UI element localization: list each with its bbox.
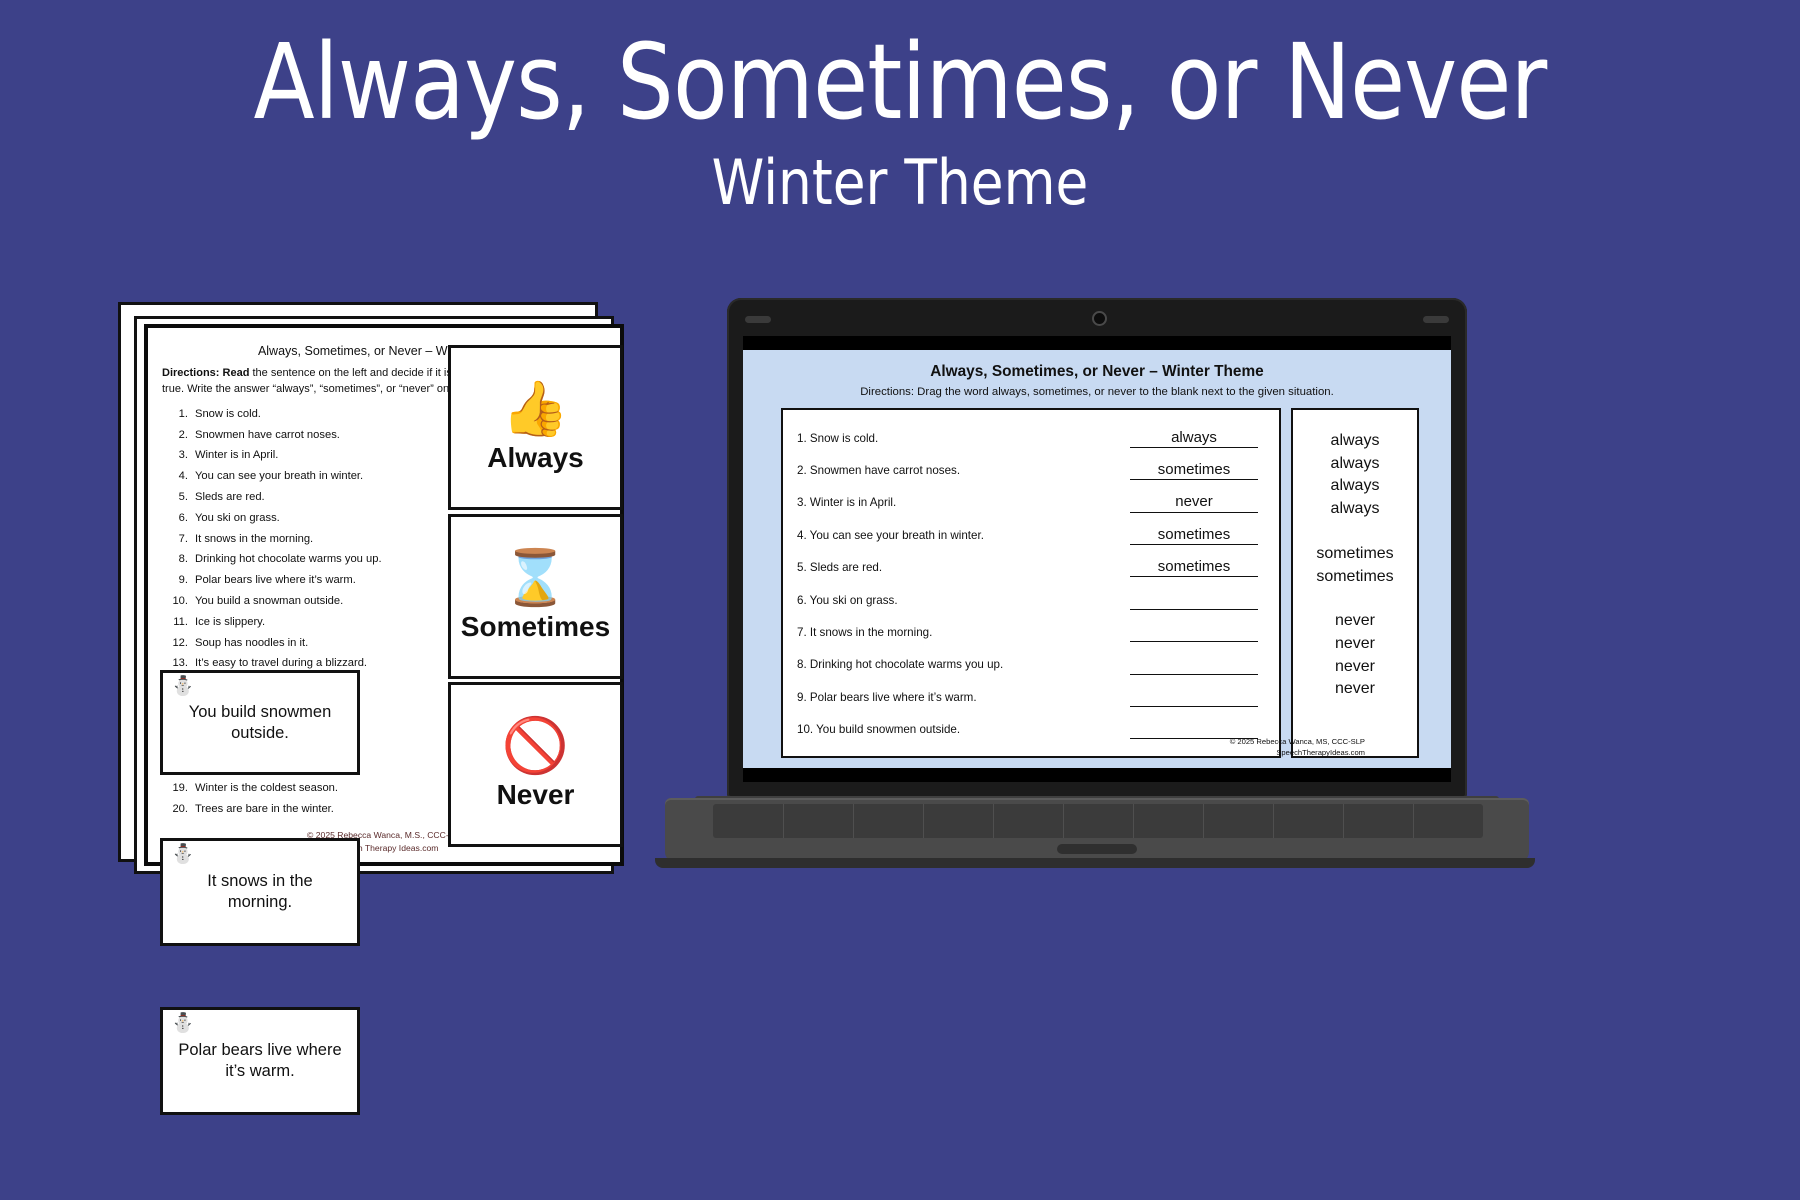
laptop-bezel-top: [727, 298, 1467, 332]
word-bank-token[interactable]: always: [1331, 475, 1380, 498]
worksheet-item-number: 2.: [166, 429, 195, 441]
category-card-sometimes[interactable]: ⌛ Sometimes: [448, 514, 623, 679]
slide-copyright-line1: © 2025 Rebecca Wanca, MS, CCC-SLP: [1230, 736, 1365, 747]
speaker-grille-right-icon: [1423, 316, 1449, 323]
no-entry-icon: 🚫: [502, 719, 569, 773]
header-banner: Always, Sometimes, or Never Winter Theme: [0, 0, 1800, 214]
worksheet-item-number: 6.: [166, 512, 195, 524]
thumbs-up-icon: 👍: [502, 382, 569, 436]
keyboard-key-divider: [923, 804, 924, 838]
keyboard-key-divider: [1133, 804, 1134, 838]
slide-item-row: 2. Snowmen have carrot noses.sometimes: [797, 454, 1265, 486]
slide-item-row: 4. You can see your breath in winter.som…: [797, 519, 1265, 551]
word-bank-token[interactable]: always: [1331, 498, 1380, 521]
laptop-front-edge: [655, 858, 1535, 868]
worksheet-item-number: 5.: [166, 491, 195, 503]
slide-directions: Directions: Drag the word always, someti…: [743, 386, 1451, 398]
slide-item-answer[interactable]: [1130, 688, 1258, 707]
worksheet-directions-bold: Directions: Read: [162, 367, 249, 379]
slide-item-row: 9. Polar bears live where it’s warm.: [797, 681, 1265, 713]
slide-item-row: 3. Winter is in April.never: [797, 487, 1265, 519]
laptop-lid: Always, Sometimes, or Never – Winter The…: [727, 298, 1467, 798]
slide-item-row: 1. Snow is cold.always: [797, 422, 1265, 454]
worksheet-item-number: 8.: [166, 553, 195, 565]
slide-item-text: 10. You build snowmen outside.: [797, 723, 1123, 736]
slide-item-answer-slot[interactable]: [1123, 591, 1265, 610]
slide-word-bank: alwaysalwaysalwaysalwayssometimessometim…: [1291, 408, 1419, 758]
hourglass-icon: ⌛: [502, 551, 569, 605]
worksheet-item-number: 20.: [166, 803, 195, 815]
slide-item-text: 8. Drinking hot chocolate warms you up.: [797, 658, 1123, 671]
worksheet-item-number: 19.: [166, 782, 195, 794]
word-bank-token[interactable]: never: [1335, 633, 1375, 656]
slide-item-answer-slot[interactable]: always: [1123, 429, 1265, 448]
word-bank-token[interactable]: never: [1335, 610, 1375, 633]
slide-question-panel: 1. Snow is cold.always2. Snowmen have ca…: [781, 408, 1281, 758]
slide-item-answer[interactable]: sometimes: [1130, 558, 1258, 577]
worksheet-item-number: 12.: [166, 637, 195, 649]
category-card-never[interactable]: 🚫 Never: [448, 682, 623, 847]
word-bank-token[interactable]: always: [1331, 453, 1380, 476]
slide-item-answer-slot[interactable]: [1123, 655, 1265, 674]
keyboard-key-divider: [1413, 804, 1414, 838]
worksheet-item-number: 9.: [166, 574, 195, 586]
worksheet-item-number: 3.: [166, 449, 195, 461]
slide-item-answer[interactable]: never: [1130, 493, 1258, 512]
laptop-keyboard[interactable]: [713, 804, 1483, 838]
keyboard-key-divider: [1063, 804, 1064, 838]
slide-item-answer-slot[interactable]: sometimes: [1123, 558, 1265, 577]
worksheet-item-number: 13.: [166, 657, 195, 669]
slide-item-text: 3. Winter is in April.: [797, 496, 1123, 509]
worksheet-item-number: 1.: [166, 408, 195, 420]
category-card-always[interactable]: 👍 Always: [448, 345, 623, 510]
slide-item-row: 5. Sleds are red.sometimes: [797, 552, 1265, 584]
category-card-label: Never: [497, 779, 575, 811]
word-bank-token[interactable]: always: [1331, 430, 1380, 453]
slide-item-text: 2. Snowmen have carrot noses.: [797, 464, 1123, 477]
slide-item-row: 8. Drinking hot chocolate warms you up.: [797, 649, 1265, 681]
slide-item-row: 6. You ski on grass.: [797, 584, 1265, 616]
word-bank-token[interactable]: never: [1335, 656, 1375, 679]
slide-item-answer[interactable]: [1130, 591, 1258, 610]
slide-item-answer-slot[interactable]: sometimes: [1123, 461, 1265, 480]
keyboard-key-divider: [1343, 804, 1344, 838]
keyboard-key-divider: [853, 804, 854, 838]
slide-item-row: 10. You build snowmen outside.: [797, 714, 1265, 746]
worksheet-item-number: 4.: [166, 470, 195, 482]
webcam-icon: [1092, 311, 1107, 326]
keyboard-key-divider: [783, 804, 784, 838]
slide-item-answer[interactable]: sometimes: [1130, 461, 1258, 480]
speaker-grille-left-icon: [745, 316, 771, 323]
snowman-icon: ⛄: [171, 845, 195, 864]
laptop-mockup: Always, Sometimes, or Never – Winter The…: [655, 298, 1535, 873]
page-subtitle: Winter Theme: [126, 152, 1674, 214]
slide-item-answer-slot[interactable]: never: [1123, 493, 1265, 512]
slide-item-answer[interactable]: [1130, 655, 1258, 674]
laptop-screen: Always, Sometimes, or Never – Winter The…: [743, 336, 1451, 782]
keyboard-key-divider: [1273, 804, 1274, 838]
digital-slide: Always, Sometimes, or Never – Winter The…: [743, 350, 1451, 768]
laptop-base: [665, 798, 1529, 862]
cue-card-text: You build snowmen outside.: [173, 702, 347, 743]
cue-card[interactable]: ⛄ It snows in the morning.: [160, 838, 360, 946]
word-bank-token[interactable]: never: [1335, 678, 1375, 701]
slide-copyright-line2: SpeechTherapyIdeas.com: [1230, 747, 1365, 758]
worksheet-item-number: 7.: [166, 533, 195, 545]
laptop-trackpad[interactable]: [1057, 844, 1137, 854]
category-card-label: Always: [487, 442, 584, 474]
slide-item-answer-slot[interactable]: [1123, 623, 1265, 642]
slide-copyright: © 2025 Rebecca Wanca, MS, CCC-SLP Speech…: [1230, 736, 1365, 758]
slide-item-answer[interactable]: [1130, 623, 1258, 642]
slide-item-answer[interactable]: always: [1130, 429, 1258, 448]
worksheet-item-number: 10.: [166, 595, 195, 607]
slide-item-answer-slot[interactable]: [1123, 688, 1265, 707]
keyboard-key-divider: [1203, 804, 1204, 838]
word-bank-token[interactable]: sometimes: [1316, 566, 1393, 589]
keyboard-key-divider: [993, 804, 994, 838]
category-card-label: Sometimes: [461, 611, 610, 643]
slide-title: Always, Sometimes, or Never – Winter The…: [743, 363, 1451, 381]
slide-item-text: 6. You ski on grass.: [797, 594, 1123, 607]
slide-item-answer[interactable]: sometimes: [1130, 526, 1258, 545]
slide-item-row: 7. It snows in the morning.: [797, 616, 1265, 648]
page-title: Always, Sometimes, or Never: [126, 30, 1674, 134]
cue-card[interactable]: ⛄ Polar bears live where it’s warm.: [160, 1007, 360, 1115]
slide-item-text: 7. It snows in the morning.: [797, 626, 1123, 639]
cue-card[interactable]: ⛄ You build snowmen outside.: [160, 670, 360, 775]
snowman-icon: ⛄: [171, 1014, 195, 1033]
slide-body: 1. Snow is cold.always2. Snowmen have ca…: [781, 408, 1437, 758]
worksheet-item-number: 11.: [166, 616, 195, 628]
slide-item-text: 4. You can see your breath in winter.: [797, 529, 1123, 542]
slide-item-text: 1. Snow is cold.: [797, 432, 1123, 445]
slide-item-text: 5. Sleds are red.: [797, 561, 1123, 574]
slide-item-answer-slot[interactable]: sometimes: [1123, 526, 1265, 545]
snowman-icon: ⛄: [171, 677, 195, 696]
cue-card-text: Polar bears live where it’s warm.: [173, 1040, 347, 1081]
slide-item-text: 9. Polar bears live where it’s warm.: [797, 691, 1123, 704]
cue-card-text: It snows in the morning.: [173, 871, 347, 912]
word-bank-token[interactable]: sometimes: [1316, 543, 1393, 566]
